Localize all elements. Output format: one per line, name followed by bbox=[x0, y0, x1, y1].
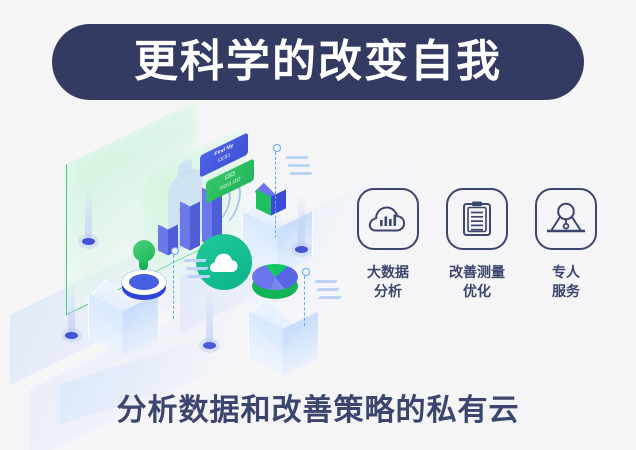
beam-base-dot bbox=[295, 246, 308, 253]
callout-line bbox=[304, 276, 305, 326]
callout-tick bbox=[185, 267, 208, 270]
callout-tick bbox=[285, 156, 308, 159]
header-banner: 更科学的改变自我 bbox=[52, 24, 584, 100]
light-beam bbox=[298, 194, 305, 248]
light-beam bbox=[68, 280, 75, 334]
support-agent-icon bbox=[535, 188, 597, 250]
beam-base-dot bbox=[65, 332, 78, 339]
light-beam bbox=[85, 186, 92, 240]
callout-tick bbox=[187, 275, 210, 278]
callout-tick bbox=[287, 164, 310, 167]
map-pin-head-icon bbox=[133, 240, 155, 262]
feature-item-support[interactable]: 专人 服务 bbox=[530, 188, 602, 301]
callout-dot bbox=[302, 268, 310, 276]
callout-dot bbox=[273, 144, 281, 152]
beam-base-dot bbox=[82, 238, 95, 245]
hero-illustration: Find My 口口口 口口 口口口 口口 bbox=[30, 122, 360, 372]
callout-line bbox=[275, 152, 276, 238]
callout-tick bbox=[318, 296, 341, 299]
poster: 更科学的改变自我 bbox=[0, 0, 636, 450]
feature-label: 改善测量 优化 bbox=[449, 263, 505, 301]
feature-label: 大数据 分析 bbox=[367, 263, 409, 301]
page-title: 更科学的改变自我 bbox=[134, 40, 502, 84]
callout-tick bbox=[314, 280, 337, 283]
pie-chart-icon bbox=[252, 264, 298, 304]
cloud-badge-icon bbox=[196, 234, 252, 290]
callout-line bbox=[173, 255, 174, 319]
pin-disc-inner bbox=[129, 274, 159, 290]
clipboard-icon bbox=[446, 188, 508, 250]
callout-tick bbox=[289, 172, 312, 175]
feature-list: 大数据 分析 改善测量 优化 bbox=[352, 188, 602, 301]
cloud-analytics-icon bbox=[357, 188, 419, 250]
feature-item-big-data[interactable]: 大数据 分析 bbox=[352, 188, 424, 301]
feature-label: 专人 服务 bbox=[552, 263, 580, 301]
footer-tagline: 分析数据和改善策略的私有云 bbox=[0, 385, 636, 429]
feature-item-measurement[interactable]: 改善测量 优化 bbox=[441, 188, 513, 301]
callout-tick bbox=[183, 259, 206, 262]
callout-dot bbox=[171, 247, 179, 255]
callout-tick bbox=[316, 288, 339, 291]
